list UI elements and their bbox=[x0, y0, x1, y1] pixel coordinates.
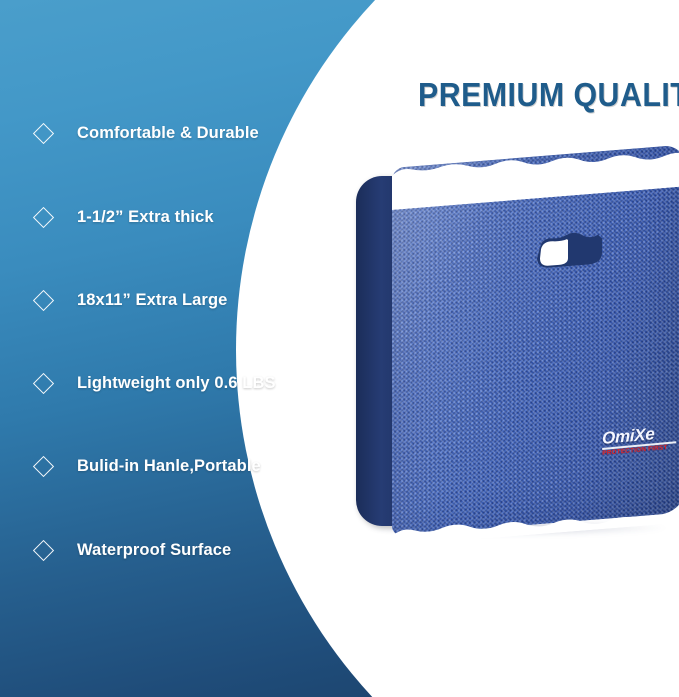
diamond-icon bbox=[33, 206, 54, 227]
list-item: Bulid-in Hanle,Portable bbox=[36, 453, 261, 479]
feature-label: Comfortable & Durable bbox=[77, 124, 259, 143]
diamond-icon bbox=[33, 372, 54, 393]
feature-label: 18x11” Extra Large bbox=[77, 291, 227, 310]
list-item: Lightweight only 0.6 LBS bbox=[36, 370, 276, 396]
list-item: 18x11” Extra Large bbox=[36, 287, 227, 313]
feature-label: Waterproof Surface bbox=[77, 541, 231, 560]
carry-handle-cutout-icon bbox=[532, 228, 608, 272]
diamond-icon bbox=[33, 455, 54, 476]
feature-label: Lightweight only 0.6 LBS bbox=[77, 374, 276, 393]
mat-front-face bbox=[392, 144, 679, 536]
feature-list: Comfortable & Durable 1-1/2” Extra thick… bbox=[0, 0, 330, 697]
mat-surface-sheen bbox=[392, 144, 679, 536]
product-image-kneeling-mat: OmiXe PROTECTION FIRST bbox=[356, 168, 679, 544]
list-item: 1-1/2” Extra thick bbox=[36, 204, 214, 230]
list-item: Comfortable & Durable bbox=[36, 120, 259, 146]
list-item: Waterproof Surface bbox=[36, 537, 231, 563]
page-title: PREMIUM QUALITY bbox=[418, 78, 679, 111]
product-marketing-image: PREMIUM QUALITY Comfortable & Durable 1-… bbox=[0, 0, 679, 697]
diamond-icon bbox=[33, 289, 54, 310]
feature-label: Bulid-in Hanle,Portable bbox=[77, 457, 261, 476]
feature-label: 1-1/2” Extra thick bbox=[77, 208, 214, 227]
diamond-icon bbox=[33, 122, 54, 143]
diamond-icon bbox=[33, 539, 54, 560]
